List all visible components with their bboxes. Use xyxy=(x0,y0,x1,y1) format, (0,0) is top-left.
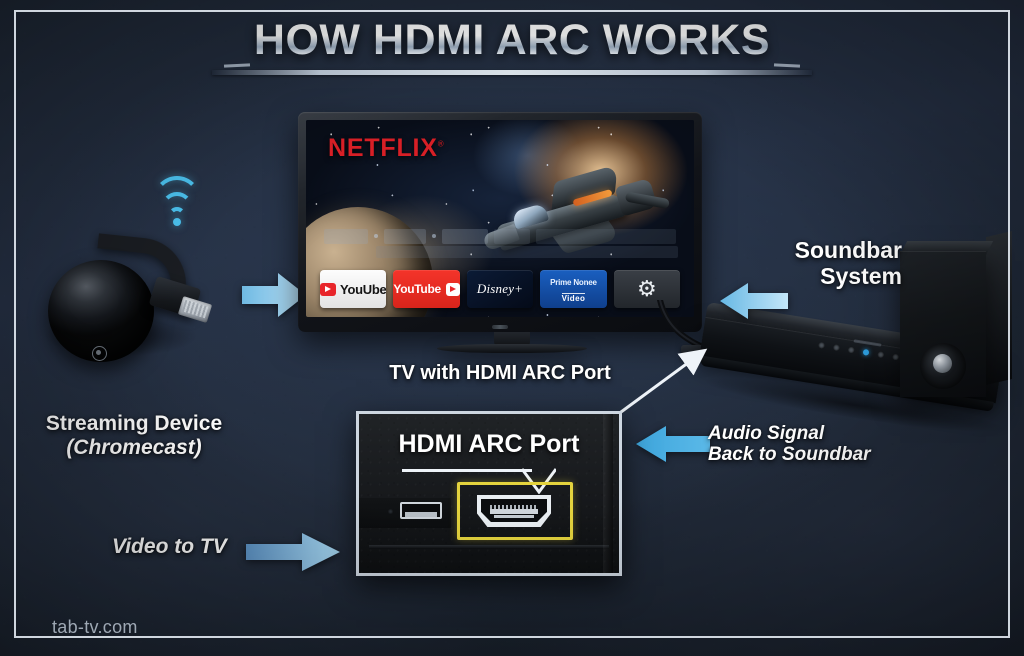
hdmi-connector-tip xyxy=(178,296,212,323)
nav-chip[interactable] xyxy=(494,229,530,244)
app-tile-label: YouTube xyxy=(393,282,440,296)
wifi-dot xyxy=(173,218,181,226)
watermark: tab-tv.com xyxy=(52,617,138,638)
soundbar-button[interactable] xyxy=(877,351,884,358)
app-tile-label-top: Prime Nonee xyxy=(550,278,597,287)
app-tile-disney-plus[interactable]: Disney+ xyxy=(467,270,533,308)
app-tile-youtube-white[interactable]: YouUbe xyxy=(320,270,386,308)
chromecast-puck xyxy=(48,260,154,362)
television: NETFLIX® YouUbe YouTube xyxy=(298,112,702,332)
soundbar-button[interactable] xyxy=(848,347,855,354)
panel-edge-line xyxy=(369,545,609,549)
youtube-play-icon xyxy=(320,283,336,296)
page-title: HOW HDMI ARC WORKS xyxy=(254,16,770,65)
nav-chip[interactable] xyxy=(442,229,488,244)
inset-title: HDMI ARC Port xyxy=(359,430,619,459)
nav-separator-dot xyxy=(374,234,378,238)
app-tile-label-bottom: Video xyxy=(562,293,586,303)
app-tile-label: YouUbe xyxy=(340,282,386,297)
video-to-tv-arrow xyxy=(246,531,342,573)
app-tile-youtube-red[interactable]: YouTube xyxy=(393,270,459,308)
hdmi-port-contact-bar xyxy=(490,509,538,514)
nav-chip-wide[interactable] xyxy=(536,229,676,244)
ship-tail xyxy=(614,178,657,217)
tv-metadata-row xyxy=(376,246,678,258)
subwoofer-driver-cone xyxy=(920,343,966,389)
audio-back-arrow xyxy=(634,424,712,464)
gear-icon: ⚙ xyxy=(637,278,657,300)
title-tick-right xyxy=(774,63,800,67)
soundbar-button[interactable] xyxy=(892,354,899,361)
hdmi-port-cavity xyxy=(481,499,547,522)
chromecast-logo-icon xyxy=(92,346,107,361)
label-soundbar-line1: Soundbar xyxy=(795,237,902,263)
label-soundbar-system: Soundbar System xyxy=(742,238,902,290)
title-block: HOW HDMI ARC WORKS xyxy=(0,16,1024,65)
tv-app-tile-row: YouUbe YouTube Disney+ Prime Nonee Video xyxy=(320,270,680,308)
subwoofer-front-panel xyxy=(900,251,986,397)
tv-nav-chip-row xyxy=(324,228,676,244)
inset-callout-line xyxy=(402,469,532,472)
tv-screen: NETFLIX® YouUbe YouTube xyxy=(306,120,694,317)
tv-power-indicator xyxy=(492,325,508,329)
label-audio-line2: Back to Soundbar xyxy=(708,444,871,465)
netflix-registered-mark: ® xyxy=(438,140,445,149)
soundbar-button[interactable] xyxy=(833,344,840,351)
hdmi-port-lower-lip xyxy=(494,515,534,518)
label-streaming-device: Streaming Device (Chromecast) xyxy=(14,412,254,459)
usb-port xyxy=(400,502,442,519)
hdmi-port-inset: HDMI ARC Port xyxy=(356,411,622,576)
soundbar-button[interactable] xyxy=(818,342,825,349)
nav-chip[interactable] xyxy=(384,229,426,244)
label-streaming-device-sub: (Chromecast) xyxy=(14,436,254,460)
subwoofer-side-panel xyxy=(986,231,1012,385)
label-soundbar-line2: System xyxy=(820,263,902,289)
tv-stand-base xyxy=(437,344,587,353)
label-streaming-device-main: Streaming Device xyxy=(46,412,222,435)
prime-video-lockup: Prime Nonee Video xyxy=(550,273,597,305)
nav-separator-dot xyxy=(432,234,436,238)
infographic-canvas: HOW HDMI ARC WORKS xyxy=(0,0,1024,656)
soundbar-status-led xyxy=(863,349,870,356)
title-tick-left xyxy=(224,63,250,67)
app-tile-prime-video[interactable]: Prime Nonee Video xyxy=(540,270,606,308)
panel-right-shade xyxy=(603,414,613,573)
label-tv-caption: TV with HDMI ARC Port xyxy=(330,362,670,384)
nav-chip[interactable] xyxy=(324,229,368,244)
youtube-play-icon xyxy=(446,283,460,296)
wifi-icon xyxy=(150,188,204,228)
hdmi-port xyxy=(477,495,551,527)
netflix-logo: NETFLIX® xyxy=(328,134,444,163)
app-tile-settings[interactable]: ⚙ xyxy=(614,270,680,308)
chromecast-device xyxy=(40,238,210,364)
panel-screw-hole xyxy=(388,509,393,514)
label-video-to-tv: Video to TV xyxy=(112,535,227,559)
label-audio-signal: Audio Signal Back to Soundbar xyxy=(708,423,948,466)
netflix-wordmark: NETFLIX xyxy=(328,134,438,162)
title-underline xyxy=(212,70,812,75)
app-tile-label: Disney+ xyxy=(477,281,523,297)
label-audio-line1: Audio Signal xyxy=(708,423,824,444)
subwoofer-device xyxy=(900,237,1012,397)
